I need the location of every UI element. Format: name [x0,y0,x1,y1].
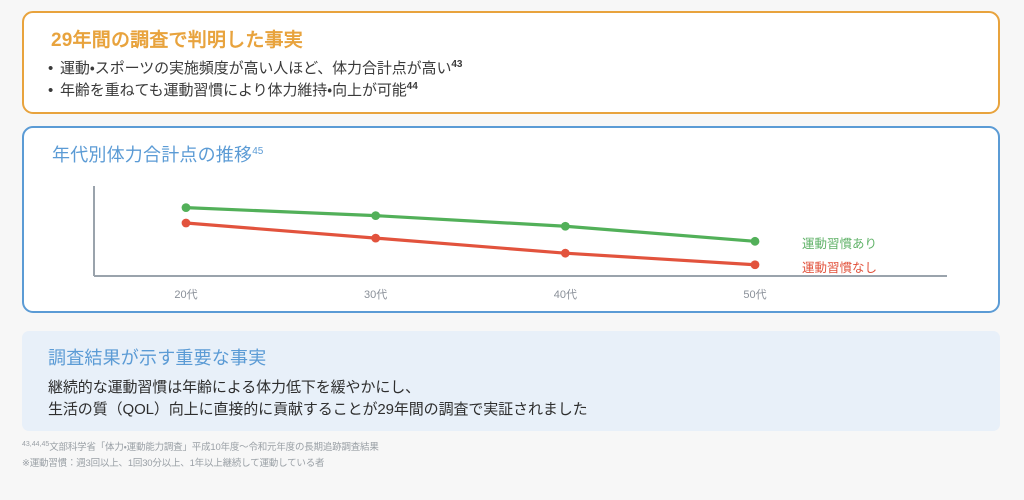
footnote-ref: 43 [451,59,462,70]
findings-item-text: 年齢を重ねても運動習慣により体力維持・向上が可能 [60,82,407,99]
x-axis-tick-label: 20代 [174,286,197,302]
x-axis-tick-label: 50代 [743,286,766,302]
slide-root: 29年間の調査で判明した事実 •運動・スポーツの実施頻度が高い人ほど、体力合計点… [0,0,1024,500]
conclusion-line: 生活の質（QOL）向上に直接的に貢献することが29年間の調査で実証されました [48,399,588,421]
footnote-text: ※運動習慣：週3回以上、1回30分以上、1年以上継続して運動している者 [22,458,324,469]
footnote-ref: 43,44,45 [22,441,49,448]
chart-svg [24,128,1002,315]
chart-panel: 年代別体力合計点の推移45 20代30代40代50代運動習慣あり運動習慣なし [22,126,1000,313]
x-axis-tick-label: 40代 [554,286,577,302]
bullet-icon: • [48,58,60,80]
footnote-ref: 44 [407,81,418,92]
series-label-without-habit: 運動習慣なし [802,257,877,276]
footnotes: 43,44,45文部科学省「体力・運動能力調査」平成10年度〜令和元年度の長期追… [22,440,379,472]
footnote-line: 43,44,45文部科学省「体力・運動能力調査」平成10年度〜令和元年度の長期追… [22,440,379,456]
findings-title-text: 年間の調査で判明した事実 [73,30,303,51]
conclusion-body: 継続的な運動習慣は年齢による体力低下を緩やかにし、 生活の質（QOL）向上に直接… [48,377,588,421]
conclusion-panel: 調査結果が示す重要な事実 継続的な運動習慣は年齢による体力低下を緩やかにし、 生… [22,331,1000,431]
x-axis-tick-label: 30代 [364,286,387,302]
findings-list: •運動・スポーツの実施頻度が高い人ほど、体力合計点が高い43 •年齢を重ねても運… [48,58,462,102]
conclusion-title: 調査結果が示す重要な事実 [48,344,266,370]
findings-panel: 29年間の調査で判明した事実 •運動・スポーツの実施頻度が高い人ほど、体力合計点… [22,11,1000,114]
findings-title-number: 29 [51,30,73,51]
conclusion-line: 継続的な運動習慣は年齢による体力低下を緩やかにし、 [48,377,588,399]
line-chart: 20代30代40代50代運動習慣あり運動習慣なし [24,128,1002,315]
findings-item-text: 運動・スポーツの実施頻度が高い人ほど、体力合計点が高い [60,60,451,77]
findings-title: 29年間の調査で判明した事実 [51,25,303,52]
footnote-line: ※運動習慣：週3回以上、1回30分以上、1年以上継続して運動している者 [22,456,379,472]
footnote-text: 文部科学省「体力・運動能力調査」平成10年度〜令和元年度の長期追跡調査結果 [49,442,378,453]
series-label-with-habit: 運動習慣あり [802,233,877,252]
findings-item: •年齢を重ねても運動習慣により体力維持・向上が可能44 [48,80,462,102]
findings-item: •運動・スポーツの実施頻度が高い人ほど、体力合計点が高い43 [48,58,462,80]
bullet-icon: • [48,80,60,102]
